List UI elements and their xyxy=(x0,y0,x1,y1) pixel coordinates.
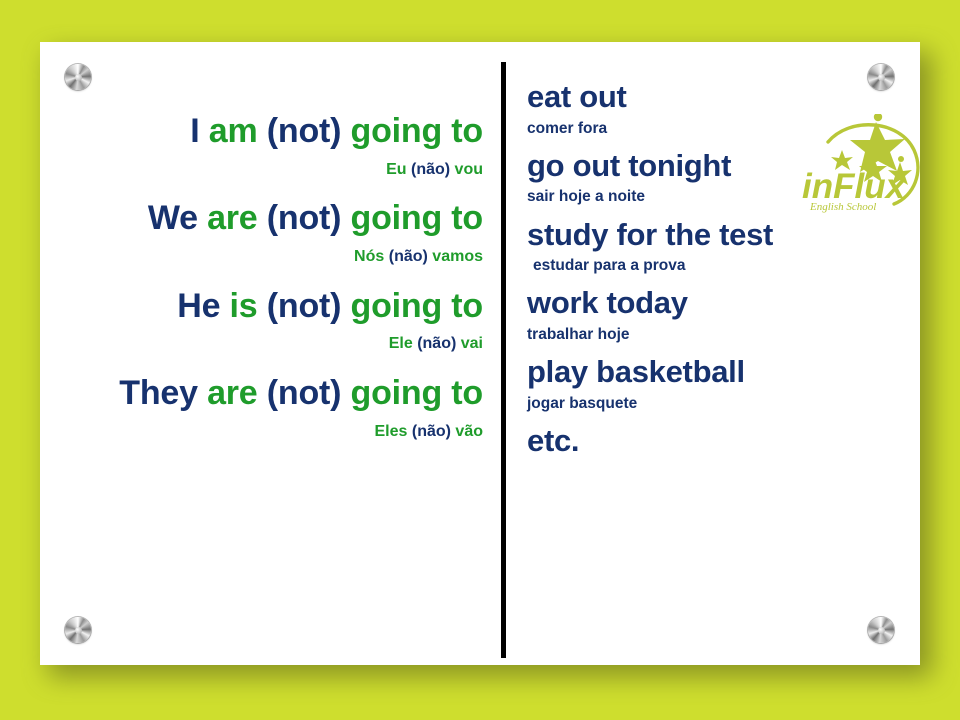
structure-row: I am (not) going to Eu (não) vou xyxy=(58,114,483,178)
translation-subject: Eu xyxy=(386,161,406,178)
translation-verb: vamos xyxy=(432,248,483,265)
white-content-panel: I am (not) going to Eu (não) vou We are … xyxy=(40,42,920,665)
structure-tail: going to xyxy=(351,374,483,412)
phrase-english: play basketball xyxy=(527,355,907,390)
structure-translation: Eu (não) vou xyxy=(58,161,483,179)
translation-negation: (não) xyxy=(412,423,451,440)
structure-verb: am xyxy=(209,112,258,150)
phrase-row: work today trabalhar hoje xyxy=(527,286,907,343)
phrase-row: study for the test estudar para a prova xyxy=(527,218,907,275)
structure-verb: is xyxy=(230,287,258,325)
structure-negation: (not) xyxy=(267,374,342,412)
logo-star-large xyxy=(850,122,905,172)
structure-subject: He xyxy=(177,287,220,325)
structure-row: They are (not) going to Eles (não) vão xyxy=(58,376,483,440)
structure-translation: Eles (não) vão xyxy=(58,423,483,441)
structure-negation: (not) xyxy=(267,287,342,325)
screw-bottom-left-icon xyxy=(65,617,91,643)
phrase-english: work today xyxy=(527,286,907,321)
structure-subject: They xyxy=(119,374,198,412)
structure-tail: going to xyxy=(351,287,483,325)
phrase-row: etc. xyxy=(527,424,907,459)
translation-negation: (não) xyxy=(417,335,456,352)
structure-tail: going to xyxy=(351,112,483,150)
structure-sentence: We are (not) going to xyxy=(58,201,483,237)
logo-star-dot xyxy=(874,114,882,121)
translation-negation: (não) xyxy=(411,161,450,178)
structure-row: We are (not) going to Nós (não) vamos xyxy=(58,201,483,265)
screw-top-left-icon xyxy=(65,64,91,90)
structure-subject: We xyxy=(148,199,198,237)
structure-sentence: I am (not) going to xyxy=(58,114,483,150)
translation-negation: (não) xyxy=(389,248,428,265)
logo-tagline: English School xyxy=(809,201,876,213)
structure-negation: (not) xyxy=(267,199,342,237)
structure-verb: are xyxy=(207,199,257,237)
screw-bottom-right-icon xyxy=(868,617,894,643)
influx-logo-graphic: inFlux English School xyxy=(790,114,930,214)
translation-subject: Nós xyxy=(354,248,384,265)
structure-sentence: He is (not) going to xyxy=(58,289,483,325)
structure-negation: (not) xyxy=(267,112,342,150)
translation-subject: Eles xyxy=(374,423,407,440)
influx-logo: inFlux English School xyxy=(790,114,930,214)
structure-tail: going to xyxy=(351,199,483,237)
phrase-portuguese: jogar basquete xyxy=(527,395,907,412)
structure-row: He is (not) going to Ele (não) vai xyxy=(58,289,483,353)
translation-verb: vai xyxy=(461,335,483,352)
translation-subject: Ele xyxy=(389,335,413,352)
translation-verb: vou xyxy=(455,161,483,178)
phrase-portuguese: estudar para a prova xyxy=(527,257,907,274)
structure-sentence: They are (not) going to xyxy=(58,376,483,412)
phrase-english: study for the test xyxy=(527,218,907,253)
phrase-english: etc. xyxy=(527,424,907,459)
phrase-english: eat out xyxy=(527,80,907,115)
translation-verb: vão xyxy=(455,423,483,440)
phrase-portuguese: trabalhar hoje xyxy=(527,326,907,343)
structure-column: I am (not) going to Eu (não) vou We are … xyxy=(58,114,483,463)
slide-canvas: I am (not) going to Eu (não) vou We are … xyxy=(0,0,960,720)
structure-verb: are xyxy=(207,374,257,412)
structure-subject: I xyxy=(190,112,199,150)
phrase-row: play basketball jogar basquete xyxy=(527,355,907,412)
structure-translation: Ele (não) vai xyxy=(58,335,483,353)
logo-star-small-right-dot xyxy=(898,156,904,162)
structure-translation: Nós (não) vamos xyxy=(58,248,483,266)
column-divider xyxy=(501,62,506,658)
